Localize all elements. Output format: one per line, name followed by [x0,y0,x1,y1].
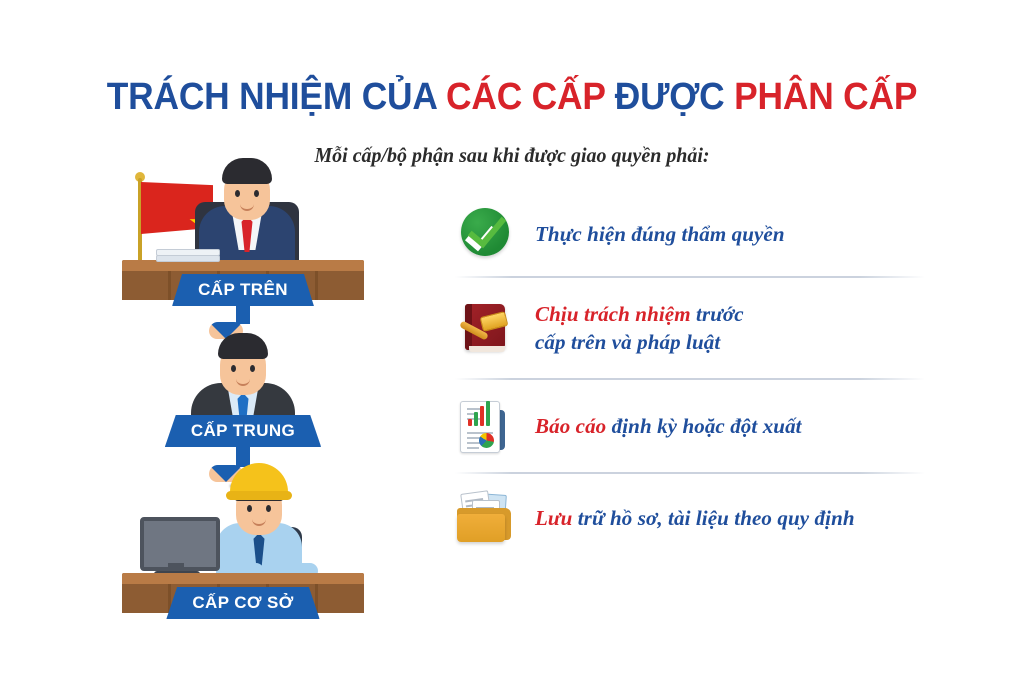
hierarchy-label-base[interactable]: CẤP CƠ SỞ [166,587,319,619]
hierarchy-label-middle[interactable]: CẤP TRUNG [165,415,321,447]
text-red-segment: Lưu [535,506,578,530]
text-red-segment: Chịu trách nhiệm [535,302,696,326]
mouth [236,377,250,386]
text-blue-segment: định kỳ hoặc đột xuất [612,414,802,438]
law-book-gavel-icon [455,298,515,358]
list-item-text: Thực hiện đúng thẩm quyền [535,220,785,248]
mouth [252,517,266,526]
list-item[interactable]: Lưu trữ hồ sơ, tài liệu theo quy định [455,478,925,558]
eye-left [231,365,236,372]
eye-right [254,190,259,197]
divider [455,472,925,474]
hierarchy-level-senior[interactable]: CẤP TRÊN [118,168,368,300]
list-item-text: Lưu trữ hồ sơ, tài liệu theo quy định [535,504,855,532]
stacked-books-icon [156,250,218,262]
list-item[interactable]: Chịu trách nhiệm trước cấp trên và pháp … [455,282,925,374]
text-blue-segment: trữ hồ sơ, tài liệu theo quy định [578,506,855,530]
document-folder-icon [455,488,515,548]
eye-right [250,365,255,372]
hierarchy-level-base[interactable]: CẤP CƠ SỞ [118,483,368,613]
text-blue-segment: trước [696,302,744,326]
text-second-line: cấp trên và pháp luật [535,330,720,354]
text-red-segment: Báo cáo [535,414,612,438]
hierarchy-label-senior[interactable]: CẤP TRÊN [172,274,314,306]
title-segment-1: TRÁCH NHIỆM CỦA [107,76,446,118]
mouth [240,202,254,211]
infographic-canvas: TRÁCH NHIỆM CỦA CÁC CẤP ĐƯỢC PHÂN CẤP Mỗ… [0,0,1024,683]
eye-left [235,190,240,197]
computer-monitor-icon [140,517,216,577]
title-segment-3: ĐƯỢC [615,76,734,118]
hard-hat-icon [227,467,291,501]
title-segment-4: PHÂN CẤP [734,76,917,118]
responsibilities-list: Thực hiện đúng thẩm quyền Chịu trách nhi… [455,196,925,558]
eye-left [247,505,252,512]
page-subtitle: Mỗi cấp/bộ phận sau khi được giao quyền … [26,143,999,168]
list-item[interactable]: Thực hiện đúng thẩm quyền [455,196,925,272]
page-title: TRÁCH NHIỆM CỦA CÁC CẤP ĐƯỢC PHÂN CẤP [36,74,988,120]
hierarchy-level-middle[interactable]: CẤP TRUNG [118,323,368,443]
eye-right [266,505,271,512]
list-item[interactable]: Báo cáo định kỳ hoặc đột xuất [455,384,925,468]
divider [455,378,925,380]
hierarchy-diagram: CẤP TRÊN CẤP TRUNG [118,168,368,613]
list-item-text: Chịu trách nhiệm trước cấp trên và pháp … [535,300,744,356]
report-chart-document-icon [455,396,515,456]
hair [218,333,268,359]
divider [455,276,925,278]
list-item-text: Báo cáo định kỳ hoặc đột xuất [535,412,802,440]
green-check-circle-icon [455,204,515,264]
text-blue-segment: Thực hiện đúng thẩm quyền [535,222,785,246]
title-segment-2: CÁC CẤP [446,76,615,118]
